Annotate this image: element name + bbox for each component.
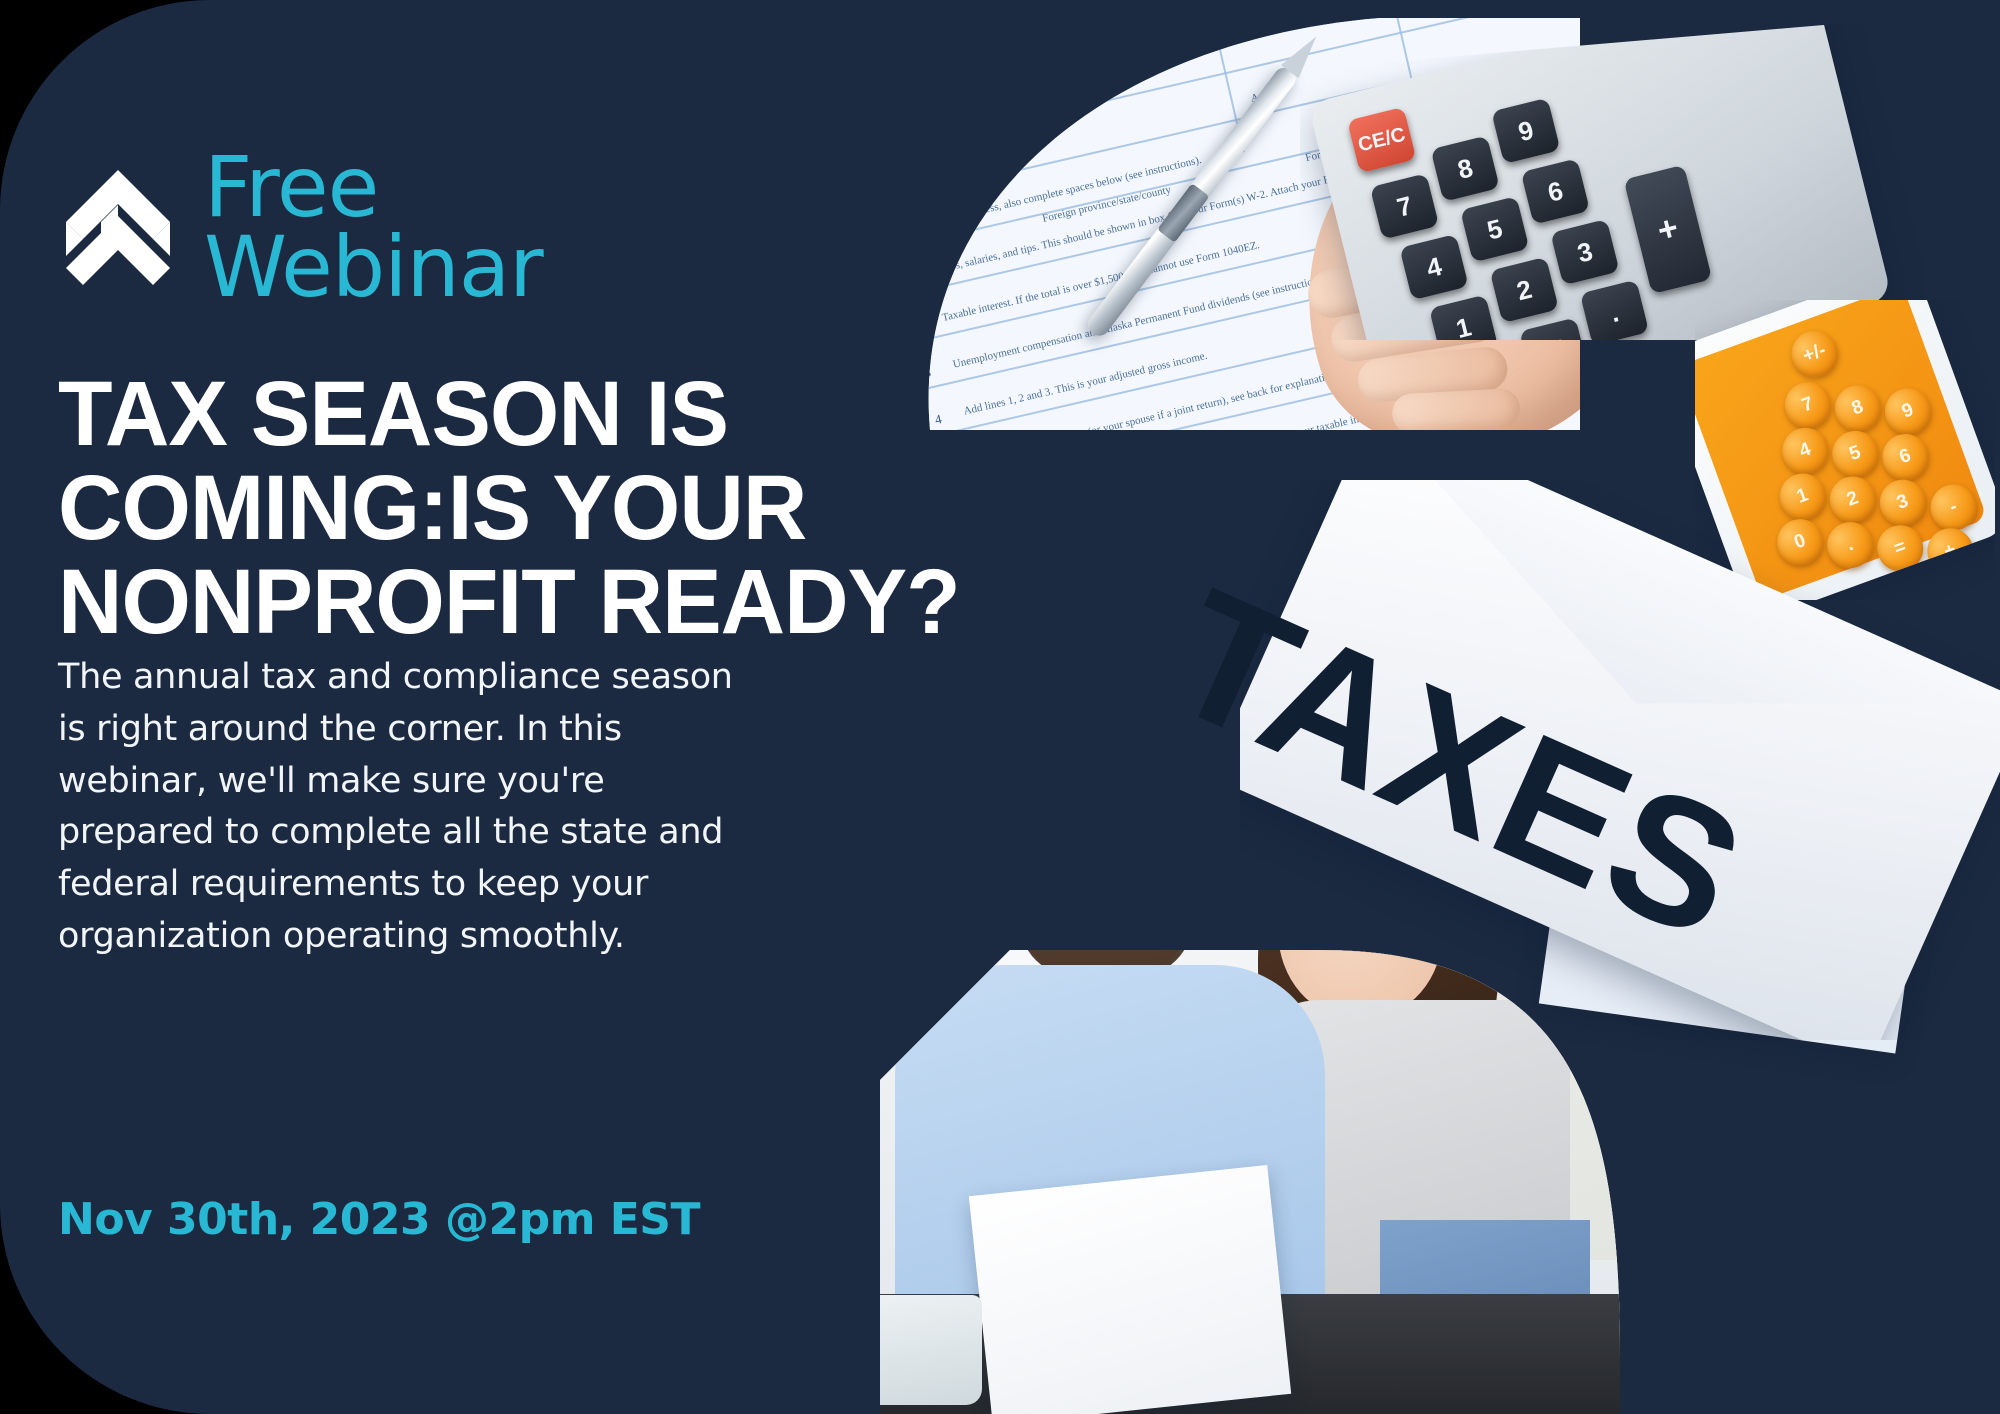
- form-checkbox-label: You: [1020, 462, 1041, 478]
- webinar-poster: Free Webinar TAX SEASON IS COMING:IS YOU…: [0, 0, 2000, 1414]
- calc-key-plus: +: [1624, 165, 1713, 294]
- calc-key-6: 6: [1521, 158, 1590, 224]
- description-paragraph: The annual tax and compliance season is …: [58, 652, 758, 963]
- calc-key-1: 1: [1429, 295, 1498, 340]
- form-routing-label: Routing number: [1035, 613, 1108, 640]
- headline-line-2: COMING:IS YOUR: [58, 462, 931, 556]
- nested-diamond-logo-icon: [58, 158, 178, 298]
- left-content-column: Free Webinar TAX SEASON IS COMING:IS YOU…: [58, 0, 988, 1414]
- calc-key-decimal: .: [1580, 280, 1649, 340]
- man-hair: [1002, 752, 1208, 867]
- calc-key-clear: CE/C: [1347, 107, 1416, 173]
- calc-key-3: 3: [1550, 219, 1619, 285]
- form-checkbox-spouse: [1135, 437, 1152, 454]
- held-document: [969, 1165, 1291, 1414]
- calc-key-8: 8: [1431, 135, 1500, 201]
- calc-key-5: 5: [1460, 196, 1529, 262]
- event-datetime: Nov 30th, 2023 @2pm EST: [58, 1194, 700, 1245]
- brand-line-2: Webinar: [204, 228, 543, 308]
- brand-wordmark: Free Webinar: [204, 148, 543, 308]
- form-checkbox-you: [998, 468, 1015, 485]
- form-line-text: Federal income tax withheld from Form(s)…: [995, 489, 1247, 558]
- calc-key-2: 2: [1490, 257, 1559, 323]
- calc-key-00: 00: [1519, 317, 1588, 340]
- headline-line-3: NONPROFIT READY?: [58, 556, 931, 650]
- page-title: TAX SEASON IS COMING:IS YOUR NONPROFIT R…: [58, 368, 931, 649]
- headline-line-1: TAX SEASON IS: [58, 368, 931, 462]
- form-checkbox-label: Spouse: [1156, 428, 1191, 447]
- brand-lockup: Free Webinar: [58, 148, 543, 308]
- brand-line-1: Free: [204, 148, 543, 228]
- calc-key-4: 4: [1399, 234, 1468, 300]
- form-line-text: Earned income credit (EIC) (see instruct…: [1000, 524, 1200, 581]
- calc-key-9: 9: [1491, 98, 1560, 164]
- form-field-label: Last name: [1228, 0, 1275, 11]
- calc-key-7: 7: [1370, 173, 1439, 239]
